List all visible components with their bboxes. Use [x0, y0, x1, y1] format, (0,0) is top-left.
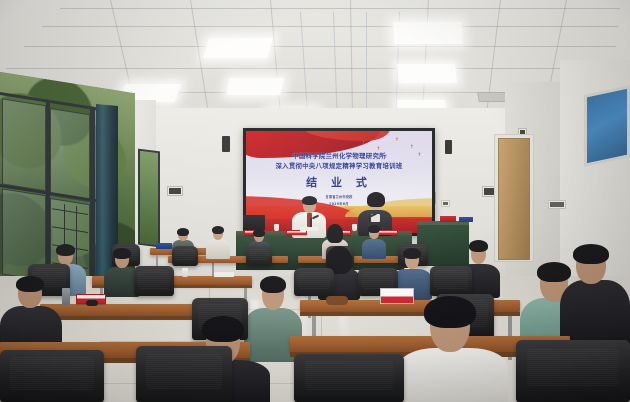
banner-program-line: 深入贯彻中央八项规定精神学习教育培训班	[246, 161, 432, 170]
attendee-torso	[362, 239, 386, 259]
chair[interactable]	[246, 246, 272, 266]
document	[214, 272, 234, 277]
projection-screen: ✝ ✝ ✝ ✝ ✝ ✝ 中国科学院兰州化学物理研究所 深入贯彻中央八项规定精神学…	[243, 128, 435, 236]
presenter-right-hair	[367, 192, 385, 207]
water-cup	[274, 224, 279, 231]
window-pane	[2, 98, 46, 191]
attendee-hair	[253, 229, 265, 237]
ceiling-grid-line	[60, 8, 620, 9]
light-switch[interactable]	[441, 200, 450, 207]
ceiling-lamp	[203, 38, 273, 58]
wall-speaker	[445, 140, 452, 154]
dove-icon: ✝	[361, 141, 365, 146]
presenter-left-hair	[302, 196, 317, 205]
material-booklet	[440, 216, 456, 222]
attendee-hair	[177, 228, 189, 236]
attendee-hair	[327, 224, 343, 243]
window-pane-secondary	[138, 149, 160, 248]
phone[interactable]	[86, 300, 98, 306]
material-folder	[156, 243, 172, 249]
attendee-torso	[206, 239, 230, 259]
ceremony-banner: ✝ ✝ ✝ ✝ ✝ ✝ 中国科学院兰州化学物理研究所 深入贯彻中央八项规定精神学…	[246, 131, 432, 233]
chair[interactable]	[172, 246, 198, 266]
chair[interactable]	[516, 340, 630, 402]
ceiling-lamp	[226, 78, 284, 95]
blue-window-panel	[584, 85, 630, 167]
ceiling-grid-line	[42, 26, 618, 27]
material-folder	[459, 217, 473, 222]
ceiling-grid-line	[6, 68, 612, 69]
banner-org-line: 中国科学院兰州化学物理研究所	[246, 151, 432, 160]
chair[interactable]	[294, 354, 404, 402]
attendee-hair	[212, 226, 224, 234]
dove-icon: ✝	[395, 138, 399, 143]
ceiling-lamp	[393, 22, 463, 44]
thermos-bottle	[62, 288, 70, 305]
chair[interactable]	[136, 346, 232, 402]
light-switch[interactable]	[548, 200, 566, 209]
document	[300, 227, 318, 231]
attendee-hair	[16, 276, 44, 292]
attendee	[560, 244, 630, 354]
banner-title: 结 业 式	[246, 174, 432, 190]
attendee-hair	[424, 296, 476, 328]
ceiling-grid-line	[24, 46, 616, 47]
chair[interactable]	[134, 266, 174, 296]
wall-speaker	[222, 136, 230, 152]
attendee	[362, 225, 386, 258]
water-cup	[352, 224, 357, 231]
attendee-hair	[403, 248, 421, 259]
conference-room-photo: ✝ ✝ ✝ ✝ ✝ ✝ 中国科学院兰州化学物理研究所 深入贯彻中央八项规定精神学…	[0, 0, 630, 402]
attendee	[398, 296, 508, 402]
wall-notice	[167, 186, 183, 196]
window-mullion	[90, 106, 95, 297]
attendee-torso	[398, 348, 508, 402]
attendee	[206, 226, 230, 258]
attendee-hair	[260, 276, 286, 293]
attendee-hair	[202, 316, 244, 342]
chair[interactable]	[430, 266, 472, 296]
attendee-hair	[56, 244, 75, 256]
desk-object	[326, 296, 348, 305]
water-cup	[182, 268, 188, 277]
attendee-hair	[573, 244, 609, 264]
attendee-hair	[368, 225, 380, 233]
attendee-hair	[469, 240, 488, 252]
chair[interactable]	[0, 350, 104, 402]
ceiling-lamp	[397, 64, 457, 83]
dove-icon: ✝	[410, 145, 414, 150]
presenter-monitor	[243, 215, 265, 230]
window-pane	[50, 108, 90, 202]
attendee-hair	[113, 248, 131, 259]
room-door[interactable]	[498, 138, 530, 260]
